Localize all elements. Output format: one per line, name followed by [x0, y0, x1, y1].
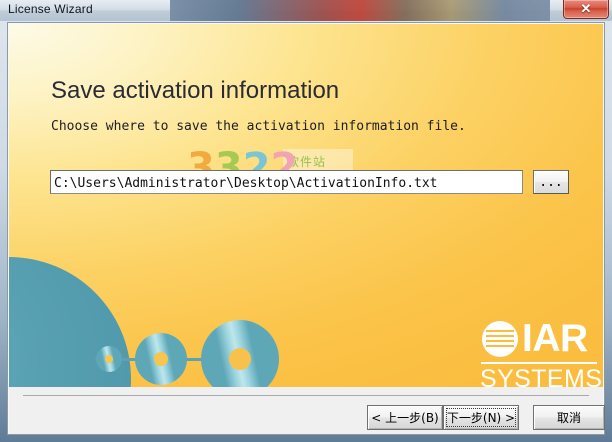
decorative-ring-small-icon: [96, 346, 122, 372]
logo-divider: [481, 362, 597, 364]
title-bar-wallpaper-blend: [170, 0, 550, 21]
browse-button[interactable]: ...: [533, 170, 569, 194]
iar-systems-logo: IAR SYSTEMS: [480, 317, 598, 387]
logo-subname: SYSTEMS: [480, 365, 602, 387]
dialog-footer: < 上一步(B) 下一步(N) > 取消: [9, 387, 603, 434]
cancel-button[interactable]: 取消: [533, 405, 605, 430]
logo-wordmark-row: IAR: [480, 317, 588, 361]
license-wizard-window: License Wizard ✕ Save activation informa…: [0, 0, 612, 442]
next-button[interactable]: 下一步(N) >: [443, 405, 519, 430]
footer-divider: [23, 395, 589, 396]
window-title: License Wizard: [8, 2, 93, 16]
iar-circle-icon: [480, 318, 520, 360]
back-button[interactable]: < 上一步(B): [367, 405, 443, 430]
title-bar[interactable]: License Wizard ✕: [0, 0, 612, 21]
decorative-ring-large-icon: [201, 320, 279, 387]
next-button-label: 下一步(N) >: [447, 409, 515, 426]
decorative-ring-medium-icon: [135, 333, 187, 385]
wizard-content-panel: Save activation information Choose where…: [9, 24, 603, 387]
wizard-dialog: Save activation information Choose where…: [7, 22, 605, 435]
page-subtitle: Choose where to save the activation info…: [51, 119, 466, 134]
save-path-input[interactable]: [50, 170, 523, 194]
close-button[interactable]: ✕: [563, 0, 609, 19]
page-title: Save activation information: [51, 77, 339, 105]
close-icon: ✕: [564, 0, 608, 18]
watermark-text-cn: 软件站: [287, 153, 326, 170]
logo-name: IAR: [522, 319, 588, 359]
